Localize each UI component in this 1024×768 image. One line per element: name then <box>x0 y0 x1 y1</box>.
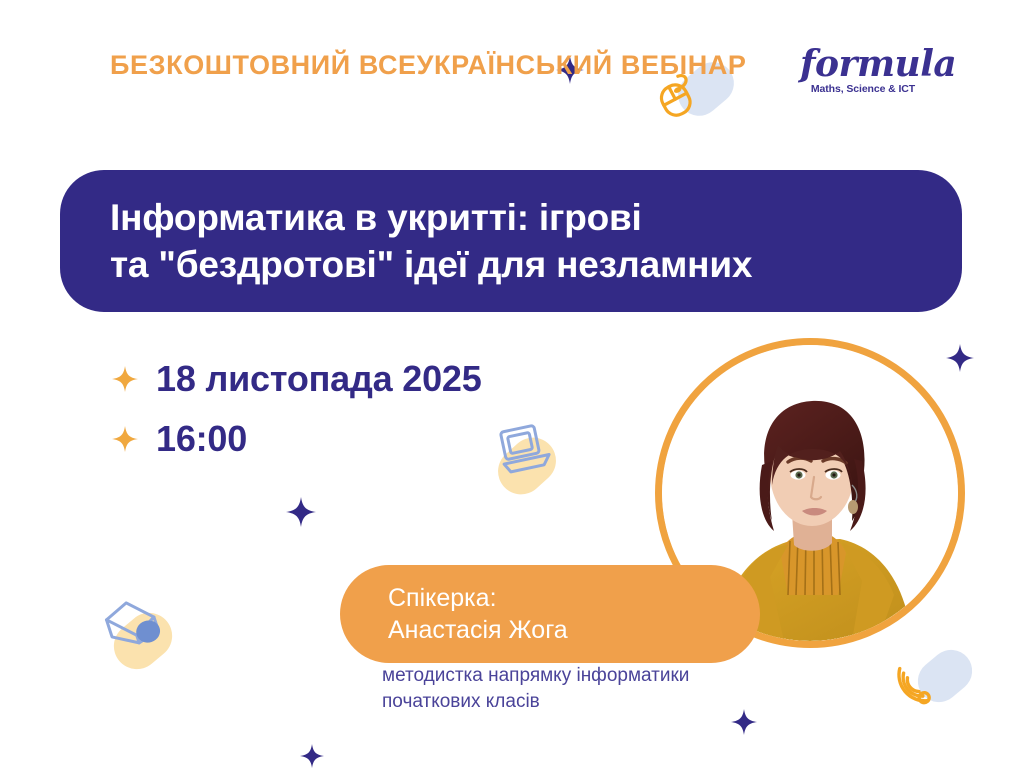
sparkle-star-icon <box>112 426 138 452</box>
event-date: 18 листопада 2025 <box>156 358 482 400</box>
poster-canvas: БЕЗКОШТОВНИЙ ВСЕУКРАЇНСЬКИЙ ВЕБІНАР form… <box>0 0 1024 768</box>
title-banner: Інформатика в укритті: ігрові та "бездро… <box>60 170 962 312</box>
sparkle-star-icon <box>286 497 316 527</box>
sparkle-star-icon <box>300 744 324 768</box>
list-item: 18 листопада 2025 <box>112 352 482 406</box>
event-time: 16:00 <box>156 418 247 460</box>
speaker-role: методистка напрямку інформатики початков… <box>382 663 689 714</box>
sparkle-star-icon <box>112 366 138 392</box>
sparkle-star-icon <box>731 709 757 735</box>
laptop-icon <box>483 411 562 490</box>
speaker-banner: Спікерка: Анастасія Жога <box>340 565 760 663</box>
list-item: 16:00 <box>112 412 482 466</box>
eyebrow-heading: БЕЗКОШТОВНИЙ ВСЕУКРАЇНСЬКИЙ ВЕБІНАР <box>110 48 747 84</box>
sparkle-star-icon <box>946 344 974 372</box>
formula-logo: formula Maths, Science & ICT <box>800 46 926 95</box>
logo-tagline: Maths, Science & ICT <box>800 83 926 95</box>
event-details: 18 листопада 2025 16:00 <box>112 352 482 466</box>
speaker-name: Спікерка: Анастасія Жога <box>340 582 568 647</box>
page-title: Інформатика в укритті: ігрові та "бездро… <box>60 194 778 289</box>
logo-wordmark: formula <box>800 46 926 82</box>
